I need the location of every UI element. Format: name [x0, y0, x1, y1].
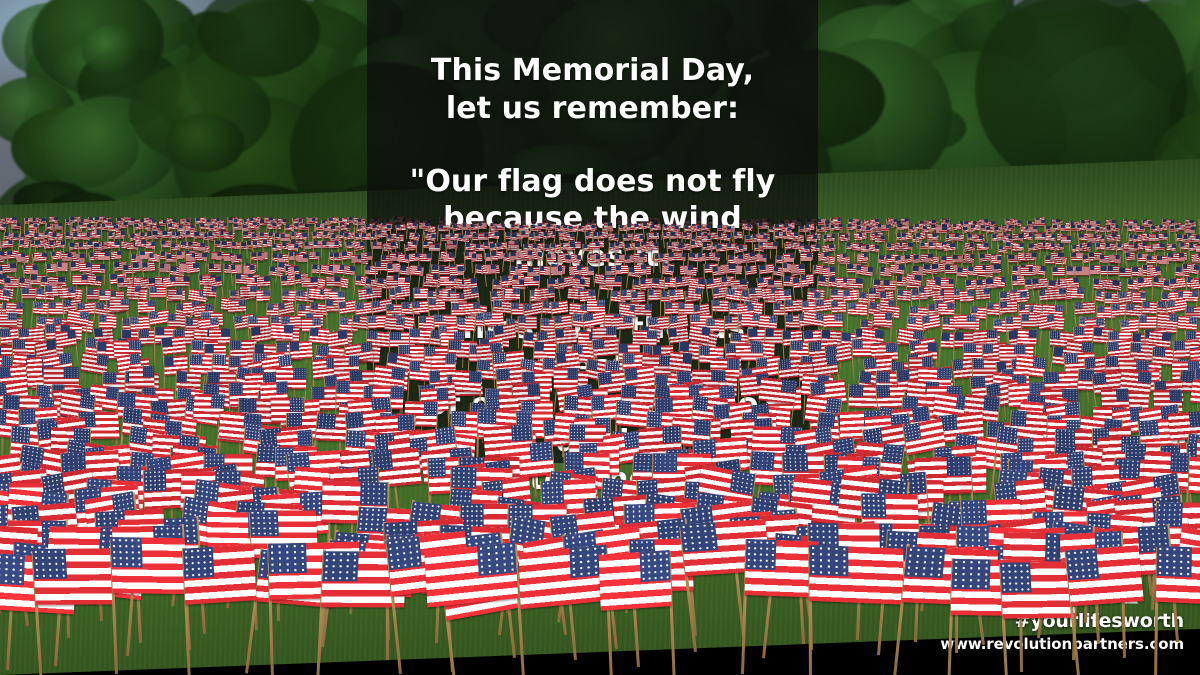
memorial-day-graphic: This Memorial Day, let us remember: "Our… [0, 0, 1200, 675]
flag-field [0, 215, 1200, 675]
memorial-day-intro: This Memorial Day, let us remember: [431, 52, 754, 128]
